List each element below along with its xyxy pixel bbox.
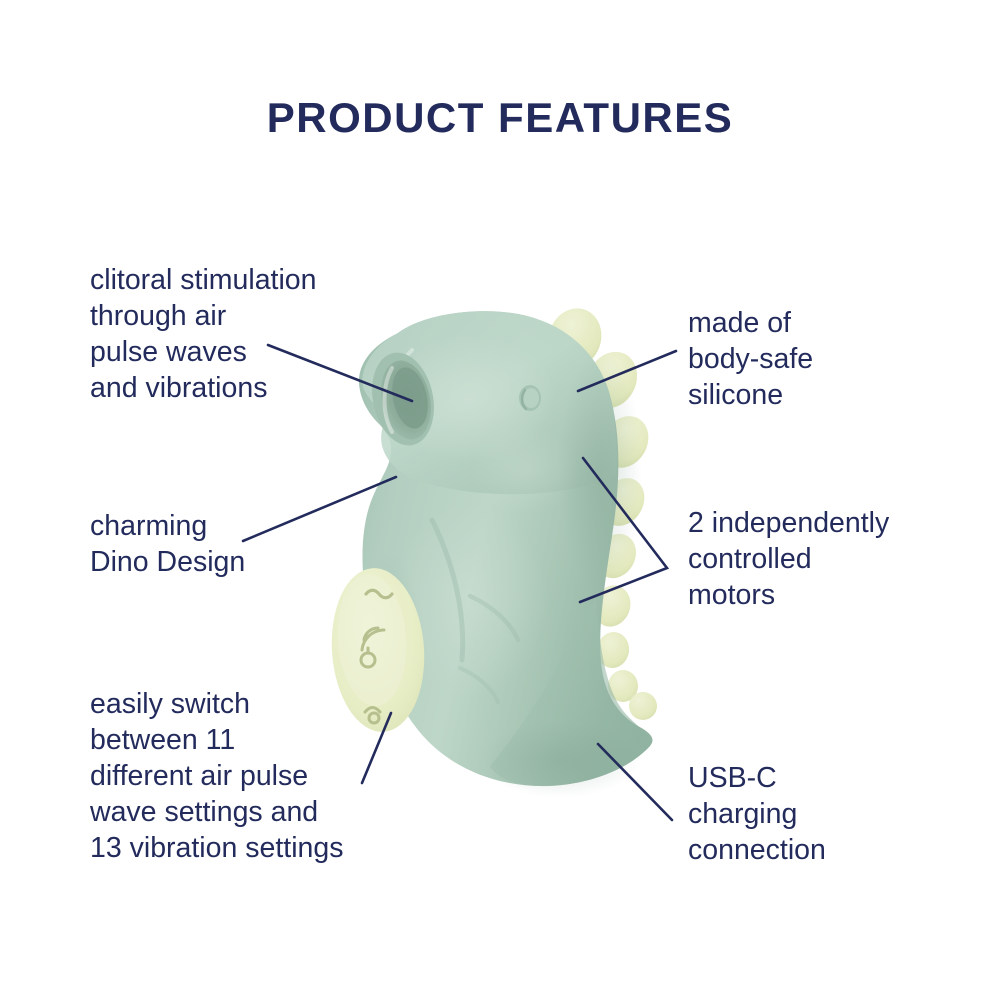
- callout-motors: 2 independently controlled motors: [688, 505, 978, 613]
- callout-dino-design: charming Dino Design: [90, 508, 390, 580]
- eye-detail: [519, 385, 541, 411]
- callout-silicone: made of body-safe silicone: [688, 305, 968, 413]
- callout-air-pulse: clitoral stimulation through air pulse w…: [90, 262, 390, 406]
- callout-settings: easily switch between 11 different air p…: [90, 686, 420, 866]
- product-features-page: PRODUCT FEATURES: [0, 0, 1000, 1000]
- callout-usb-c: USB-C charging connection: [688, 760, 968, 868]
